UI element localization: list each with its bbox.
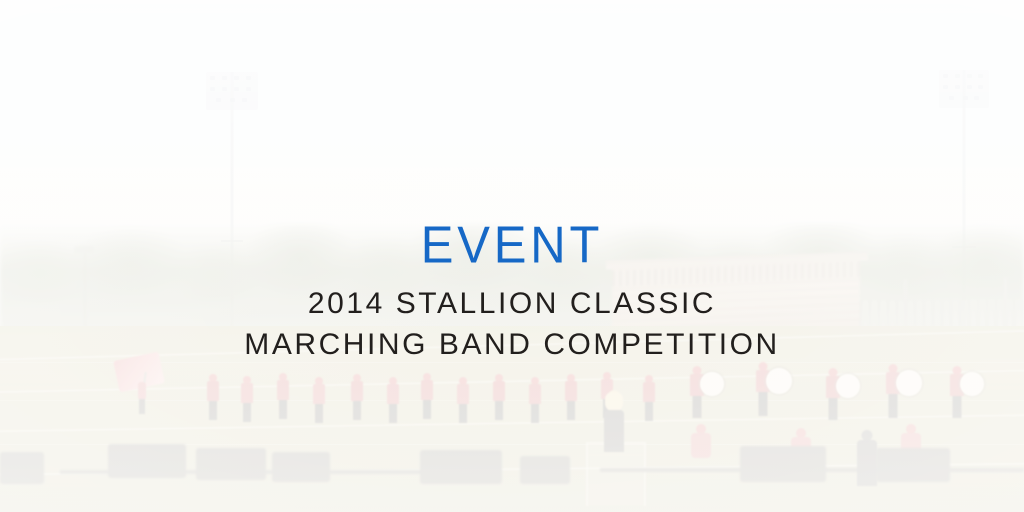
light-pole-lamp-bank	[206, 72, 258, 110]
band-member	[206, 374, 220, 420]
band-member	[528, 377, 542, 423]
band-member	[350, 374, 364, 420]
band-member	[456, 377, 470, 423]
pit-instrument	[520, 456, 570, 484]
bass-drum-head	[896, 370, 922, 396]
crowd	[612, 261, 860, 287]
bass-drum-head	[960, 372, 984, 396]
band-member	[564, 374, 578, 420]
color-guard-performer	[108, 356, 166, 414]
band-member	[492, 374, 506, 420]
pit-instrument	[196, 448, 266, 480]
band-member	[420, 373, 434, 419]
event-banner: Event 2014 Stallion Classic Marching Ban…	[0, 0, 1024, 512]
bass-drum-head	[700, 372, 724, 396]
band-member	[642, 375, 656, 421]
bass-drum-head	[836, 374, 860, 398]
band-member	[276, 373, 290, 419]
band-member	[240, 376, 254, 422]
band-member	[386, 377, 400, 423]
background-photograph	[0, 0, 1024, 512]
band-member	[312, 377, 326, 423]
pit-instrument	[876, 448, 950, 482]
pit-instrument	[420, 450, 502, 484]
pit-instrument	[0, 452, 44, 484]
pit-instrument	[740, 446, 826, 482]
band-member-seated	[690, 424, 712, 458]
pit-instrument	[272, 452, 330, 482]
pit-instrument	[108, 444, 186, 478]
pit-member	[856, 430, 878, 486]
light-pole-lamp-bank	[939, 70, 989, 108]
conductor	[602, 390, 626, 452]
bass-drum-head	[766, 368, 792, 394]
